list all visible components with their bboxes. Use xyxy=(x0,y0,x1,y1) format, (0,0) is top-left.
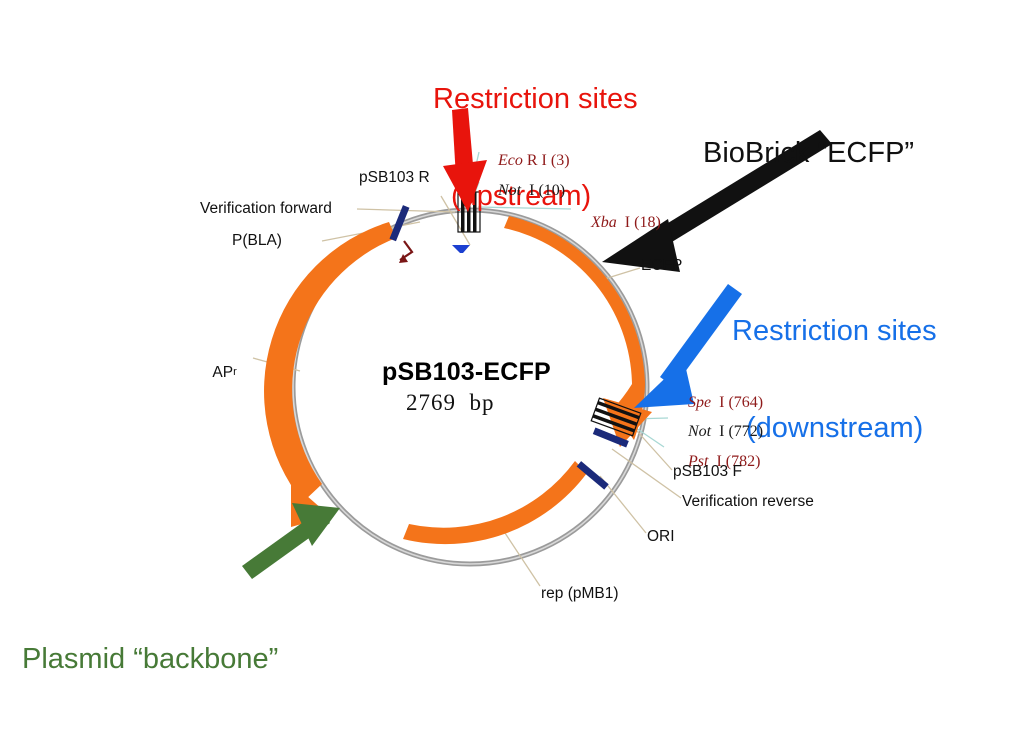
enzyme-label-xba-i: Xba I (18) xyxy=(575,199,661,247)
biobrick-ecfp-callout: BioBrick “ECFP” xyxy=(703,72,914,234)
pbla-promoter-label: P(BLA) xyxy=(232,233,282,249)
plasmid-backbone-callout: Plasmid “backbone” xyxy=(22,578,278,740)
ampicillin-resistance-text: AP xyxy=(212,364,233,381)
enzyme-name: Not xyxy=(498,182,521,199)
callout-line1: Plasmid “backbone” xyxy=(22,643,278,675)
verification-reverse-label: Verification reverse xyxy=(682,494,814,510)
callout-line1: Restriction sites xyxy=(433,83,638,115)
callout-line2: (downstream) xyxy=(746,412,937,444)
psb103-r-primer-label: pSB103 R xyxy=(359,170,430,186)
enzyme-position: (18) xyxy=(634,214,661,231)
callout-line1: BioBrick “ECFP” xyxy=(703,137,914,169)
callout-line1: Restriction sites xyxy=(732,315,937,347)
rep-pmb1-label: rep (pMB1) xyxy=(541,586,619,602)
ampicillin-resistance-label: APr xyxy=(196,349,237,396)
ecfp-feature-label: ECFP xyxy=(641,258,682,274)
enzyme-label-not-i-10: Not I (10) xyxy=(482,167,565,215)
enzyme-position: (10) xyxy=(538,182,565,199)
ampicillin-resistance-superscript: r xyxy=(233,366,237,378)
plasmid-size: 2769 bp xyxy=(406,390,495,416)
psb103-f-primer-label: pSB103 F xyxy=(673,464,742,480)
plasmid-name: pSB103-ECFP xyxy=(382,358,551,387)
verification-forward-label: Verification forward xyxy=(200,201,332,217)
ori-label: ORI xyxy=(647,529,675,545)
ampicillin-resistance-arc xyxy=(264,222,396,502)
enzyme-name: Xba xyxy=(591,214,617,231)
rep-pmb1-arc xyxy=(403,461,587,544)
plasmid-figure: Restriction sites (upstream) BioBrick “E… xyxy=(0,0,1011,672)
